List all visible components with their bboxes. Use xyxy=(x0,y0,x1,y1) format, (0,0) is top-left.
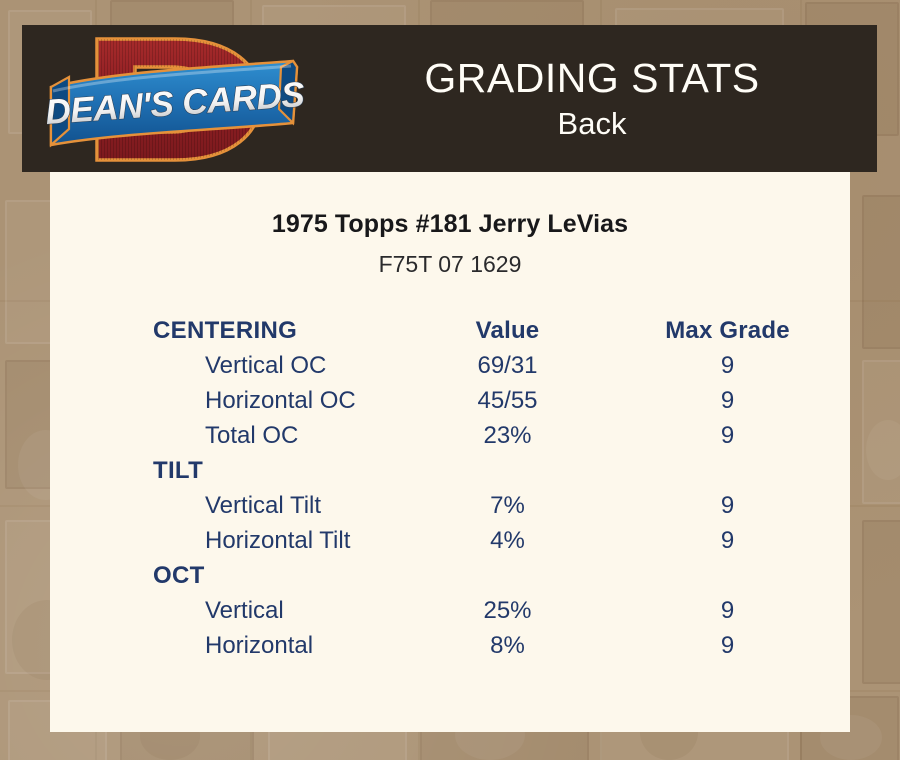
grading-stats-body: Vertical OC69/319Horizontal OC45/559Tota… xyxy=(50,348,850,663)
stat-label: Vertical xyxy=(50,593,410,628)
column-header-value: Value xyxy=(410,313,605,348)
table-row: Horizontal OC45/559 xyxy=(50,383,850,418)
page-subtitle: Back xyxy=(558,108,627,141)
section-header-row: TILT xyxy=(50,453,850,488)
stat-value: 8% xyxy=(410,628,605,663)
stat-max-grade: 9 xyxy=(605,488,850,523)
deans-cards-logo[interactable]: DEAN'S CARDS xyxy=(47,27,307,172)
stat-max-grade: 9 xyxy=(605,593,850,628)
stat-label: Horizontal OC xyxy=(50,383,410,418)
stat-max-grade: 9 xyxy=(605,628,850,663)
stat-value: 4% xyxy=(410,523,605,558)
stat-value: 45/55 xyxy=(410,383,605,418)
table-row: Vertical Tilt7%9 xyxy=(50,488,850,523)
header-bar: DEAN'S CARDS GRADING STATS Back xyxy=(22,25,877,172)
stat-max-grade: 9 xyxy=(605,348,850,383)
card-title: 1975 Topps #181 Jerry LeVias xyxy=(50,210,850,239)
stat-value: 25% xyxy=(410,593,605,628)
column-header-section: CENTERING xyxy=(50,313,410,348)
stat-label: Total OC xyxy=(50,418,410,453)
stat-label: Horizontal Tilt xyxy=(50,523,410,558)
table-header-row: CENTERING Value Max Grade xyxy=(50,313,850,348)
grading-stats-table: CENTERING Value Max Grade Vertical OC69/… xyxy=(50,313,850,663)
section-header-label: TILT xyxy=(50,453,850,488)
stat-label: Vertical Tilt xyxy=(50,488,410,523)
table-row: Horizontal Tilt4%9 xyxy=(50,523,850,558)
table-row: Horizontal8%9 xyxy=(50,628,850,663)
stat-max-grade: 9 xyxy=(605,523,850,558)
card-serial-number: F75T 07 1629 xyxy=(50,251,850,278)
table-row: Total OC23%9 xyxy=(50,418,850,453)
table-row: Vertical OC69/319 xyxy=(50,348,850,383)
page-title: GRADING STATS xyxy=(424,57,759,100)
section-header-label: OCT xyxy=(50,558,850,593)
stat-label: Vertical OC xyxy=(50,348,410,383)
content-panel: 1975 Topps #181 Jerry LeVias F75T 07 162… xyxy=(50,172,850,732)
stat-max-grade: 9 xyxy=(605,418,850,453)
stat-max-grade: 9 xyxy=(605,383,850,418)
stat-label: Horizontal xyxy=(50,628,410,663)
column-header-max-grade: Max Grade xyxy=(605,313,850,348)
stat-value: 7% xyxy=(410,488,605,523)
stat-value: 23% xyxy=(410,418,605,453)
stat-value: 69/31 xyxy=(410,348,605,383)
table-row: Vertical25%9 xyxy=(50,593,850,628)
section-header-row: OCT xyxy=(50,558,850,593)
